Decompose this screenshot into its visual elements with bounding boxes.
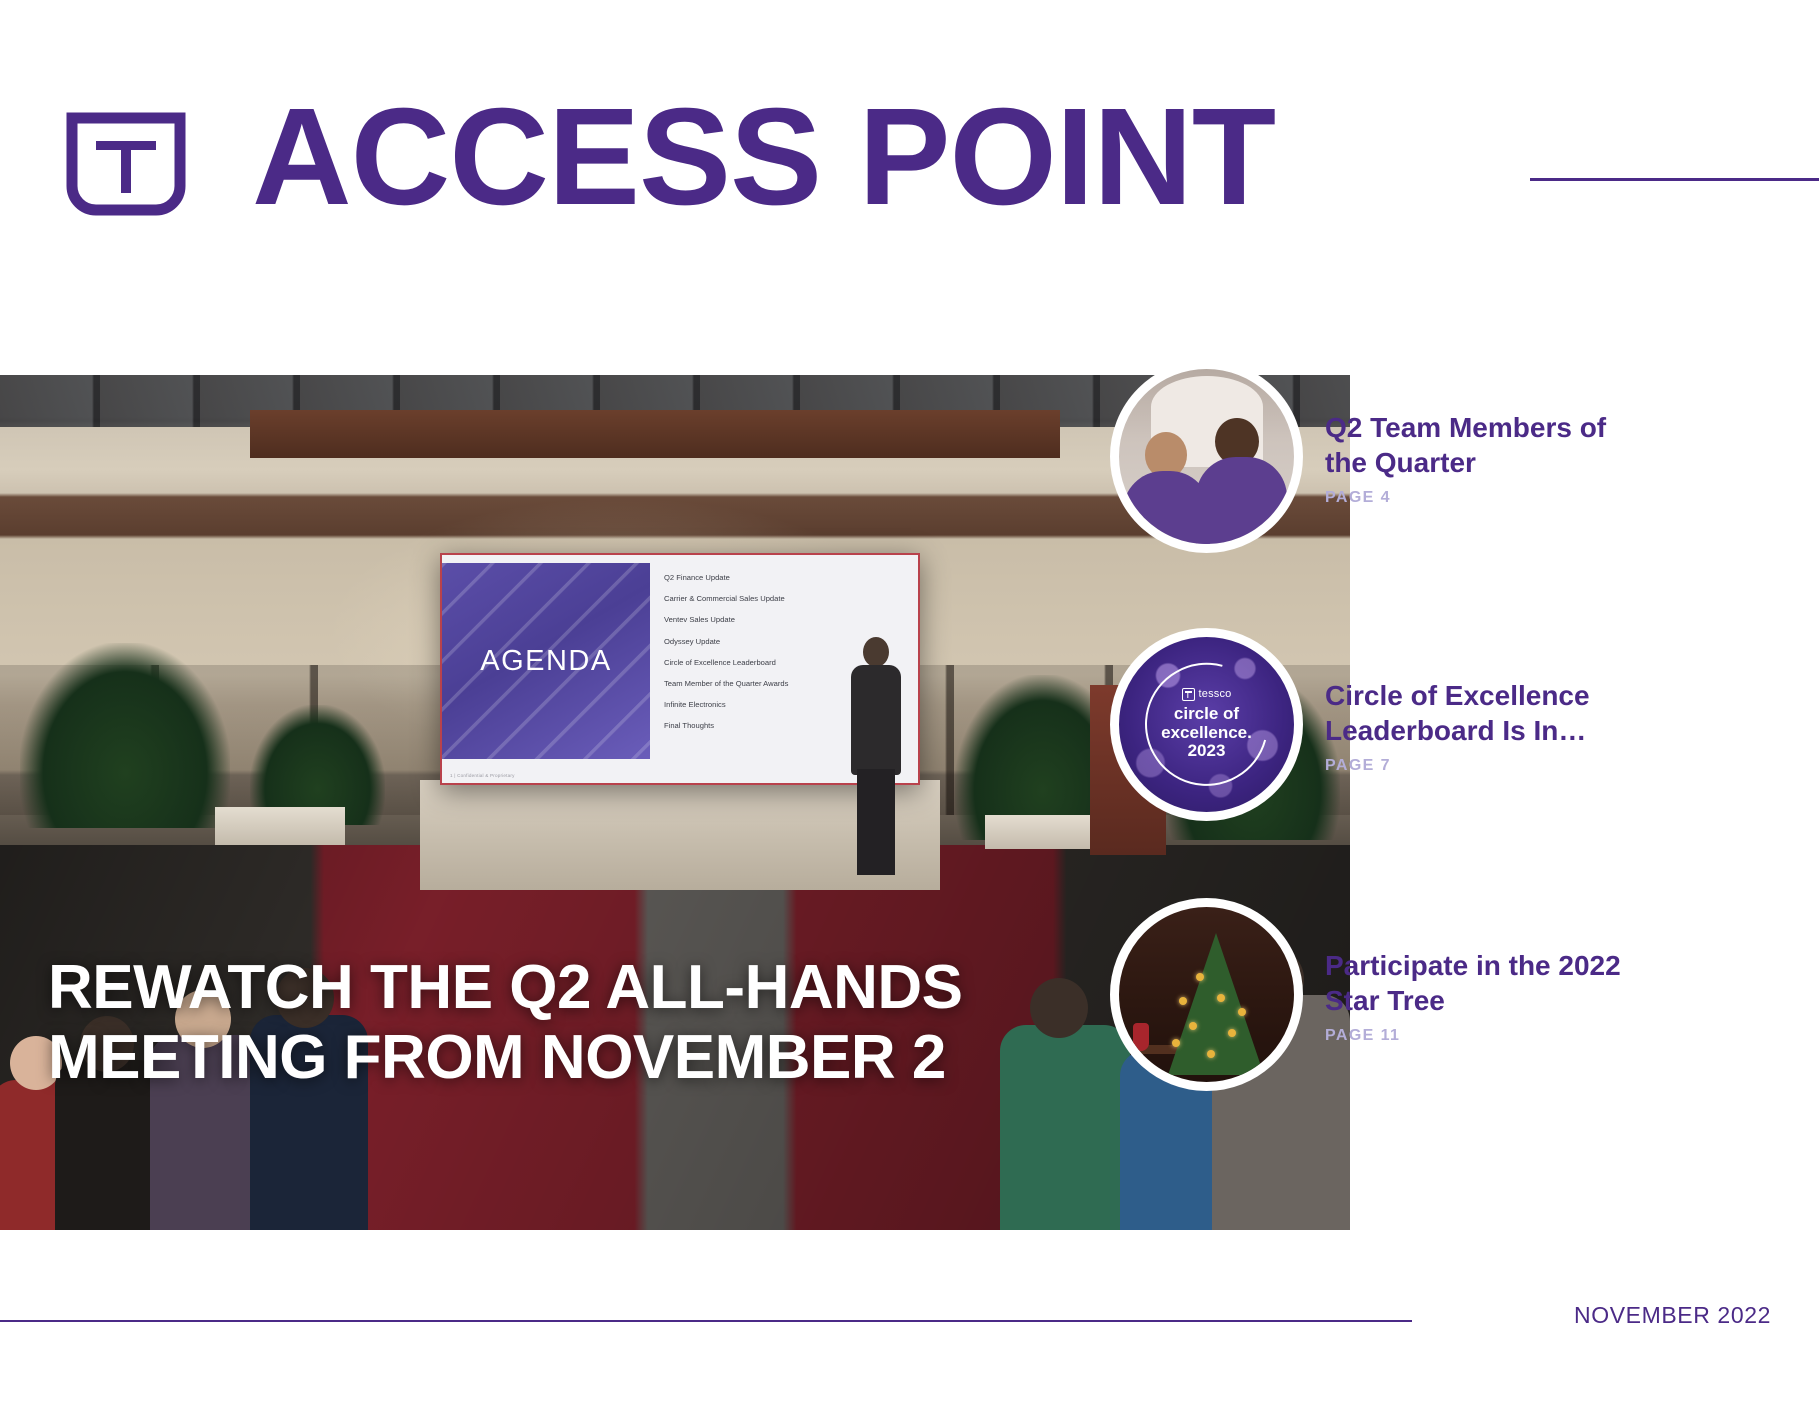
hero-wood-band [250, 410, 1060, 458]
presenter-figure [845, 637, 905, 875]
toc-item-team-members[interactable]: Q2 Team Members of the Quarter PAGE 4 [1295, 360, 1625, 553]
toc-item-circle-of-excellence[interactable]: tessco circle of excellence. 2023 Circle… [1295, 628, 1625, 821]
slide-footer: 1 | Confidential & Proprietary [450, 773, 515, 778]
page-title: ACCESS POINT [252, 88, 1275, 226]
tessco-logo-icon [62, 108, 190, 220]
hero-headline: REWATCH THE Q2 ALL-HANDS MEETING FROM NO… [48, 953, 1168, 1093]
toc-page-label: PAGE 4 [1325, 489, 1625, 507]
toc-thumbnail-star-tree[interactable] [1110, 898, 1303, 1091]
masthead-rule [1530, 178, 1819, 181]
toc-page-label: PAGE 7 [1325, 757, 1625, 775]
toc-title: Q2 Team Members of the Quarter [1325, 410, 1625, 480]
list-item: Q2 Finance Update [664, 573, 914, 582]
planter [215, 807, 345, 845]
toc-page-label: PAGE 11 [1325, 1027, 1625, 1045]
badge-line-2: excellence. [1161, 724, 1252, 742]
badge-year: 2023 [1161, 742, 1252, 760]
footer-date: NOVEMBER 2022 [1574, 1302, 1771, 1329]
toc-title: Participate in the 2022 Star Tree [1325, 948, 1625, 1018]
slide-title: AGENDA [480, 645, 611, 678]
badge-brand-name: tessco [1199, 689, 1232, 701]
plant-icon [20, 643, 230, 828]
masthead: ACCESS POINT [0, 0, 1819, 290]
list-item: Carrier & Commercial Sales Update [664, 594, 914, 603]
tessco-logo-icon [1182, 688, 1195, 701]
badge-brand: tessco [1161, 688, 1252, 701]
toc-item-star-tree[interactable]: Participate in the 2022 Star Tree PAGE 1… [1295, 898, 1625, 1091]
toc-thumbnail-circle-of-excellence[interactable]: tessco circle of excellence. 2023 [1110, 628, 1303, 821]
badge-line-1: circle of [1161, 705, 1252, 723]
newsletter-cover-page: ACCESS POINT AGENDA Q2 Finance Update Ca… [0, 0, 1819, 1406]
badge-text: tessco circle of excellence. 2023 [1161, 688, 1252, 760]
list-item: Ventev Sales Update [664, 615, 914, 624]
toc-thumbnail-team-members[interactable] [1110, 360, 1303, 553]
slide-image-panel: AGENDA [442, 563, 650, 759]
toc-title: Circle of Excellence Leaderboard Is In… [1325, 678, 1625, 748]
footer-rule [0, 1320, 1412, 1322]
